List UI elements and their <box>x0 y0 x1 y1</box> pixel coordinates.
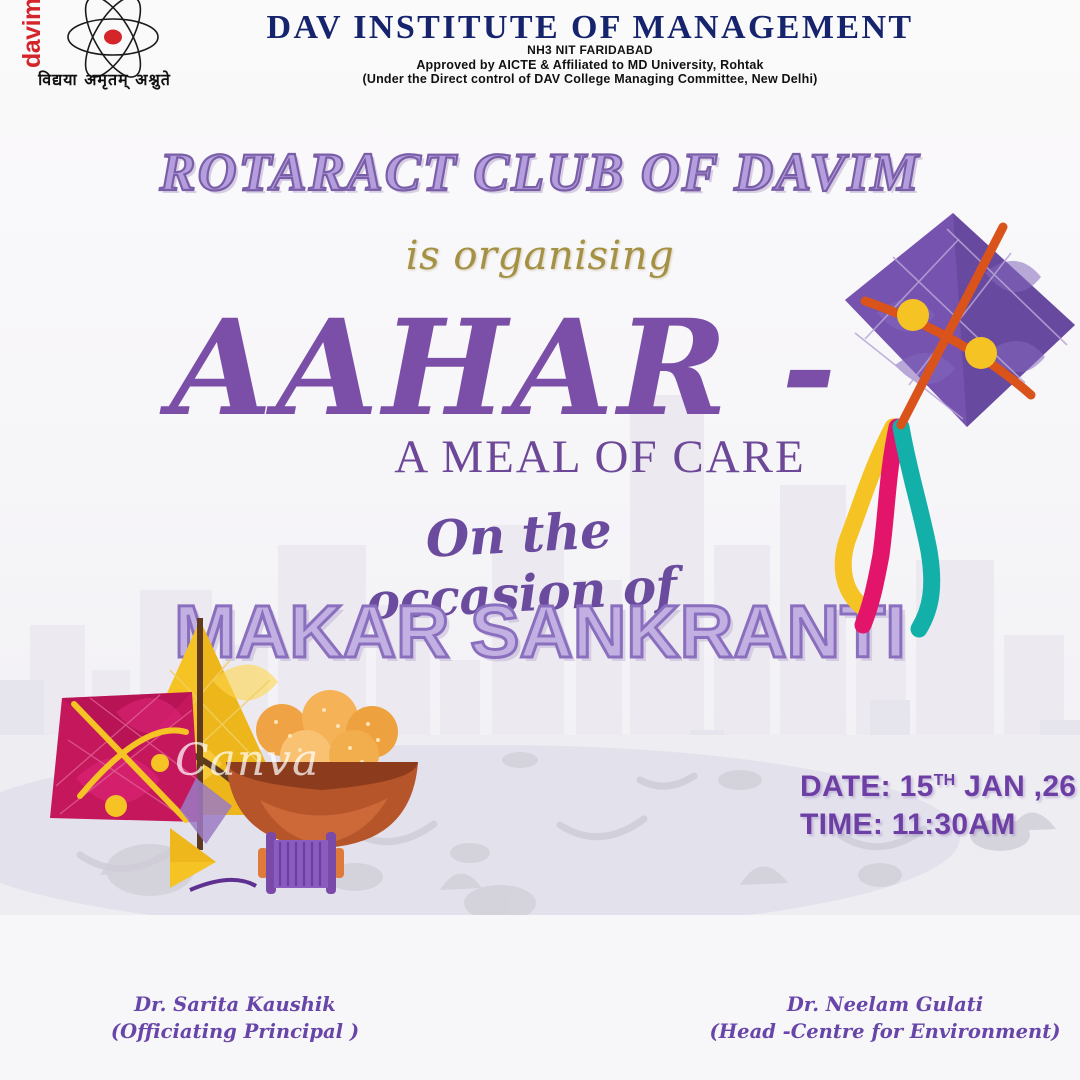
header: davim विद्यया अमृतम् अश्नुते DAV INSTITU… <box>0 0 1080 100</box>
signature-right-role: (Head -Centre for Environment) <box>690 1018 1080 1045</box>
date-label: DATE: <box>800 770 891 803</box>
club-name-heading: ROTARACT CLUB OF DAVIM <box>0 141 1080 203</box>
time-label: TIME: <box>800 808 883 841</box>
atom-icon <box>64 6 162 68</box>
logo-brand-text: davim <box>18 8 47 68</box>
event-time-line: TIME: 11:30AM <box>800 806 1080 844</box>
time-value: 11:30AM <box>883 808 1015 841</box>
institute-governance: (Under the Direct control of DAV College… <box>200 72 980 86</box>
poster-canvas: davim विद्यया अमृतम् अश्नुते DAV INSTITU… <box>0 0 1080 1080</box>
institute-logo: davim विद्यया अमृतम् अश्नुते <box>12 6 197 94</box>
signature-right: Dr. Neelam Gulati (Head -Centre for Envi… <box>690 991 1080 1046</box>
signature-left-role: (Officiating Principal ) <box>40 1018 430 1045</box>
institute-name: DAV INSTITUTE OF MANAGEMENT <box>200 9 980 47</box>
signature-left: Dr. Sarita Kaushik (Officiating Principa… <box>40 991 430 1046</box>
date-day: 15 <box>900 770 934 803</box>
institute-address: NH3 NIT FARIDABAD <box>200 43 980 57</box>
date-ordinal: TH <box>934 772 956 789</box>
event-datetime: DATE: 15TH JAN ,26 TIME: 11:30AM <box>800 768 1080 843</box>
signature-right-name: Dr. Neelam Gulati <box>690 991 1080 1018</box>
institute-accreditation: Approved by AICTE & Affiliated to MD Uni… <box>200 58 980 72</box>
logo-sanskrit-motto: विद्यया अमृतम् अश्नुते <box>12 68 197 90</box>
makar-sankranti-illustration <box>20 600 420 900</box>
laddu-bowl-icon <box>226 690 418 848</box>
purple-diamond-kite-icon <box>835 205 1080 645</box>
date-rest: JAN ,26 <box>956 770 1077 803</box>
magenta-kite-icon <box>50 692 200 822</box>
signature-left-name: Dr. Sarita Kaushik <box>40 991 430 1018</box>
event-date-line: DATE: 15TH JAN ,26 <box>800 768 1080 806</box>
